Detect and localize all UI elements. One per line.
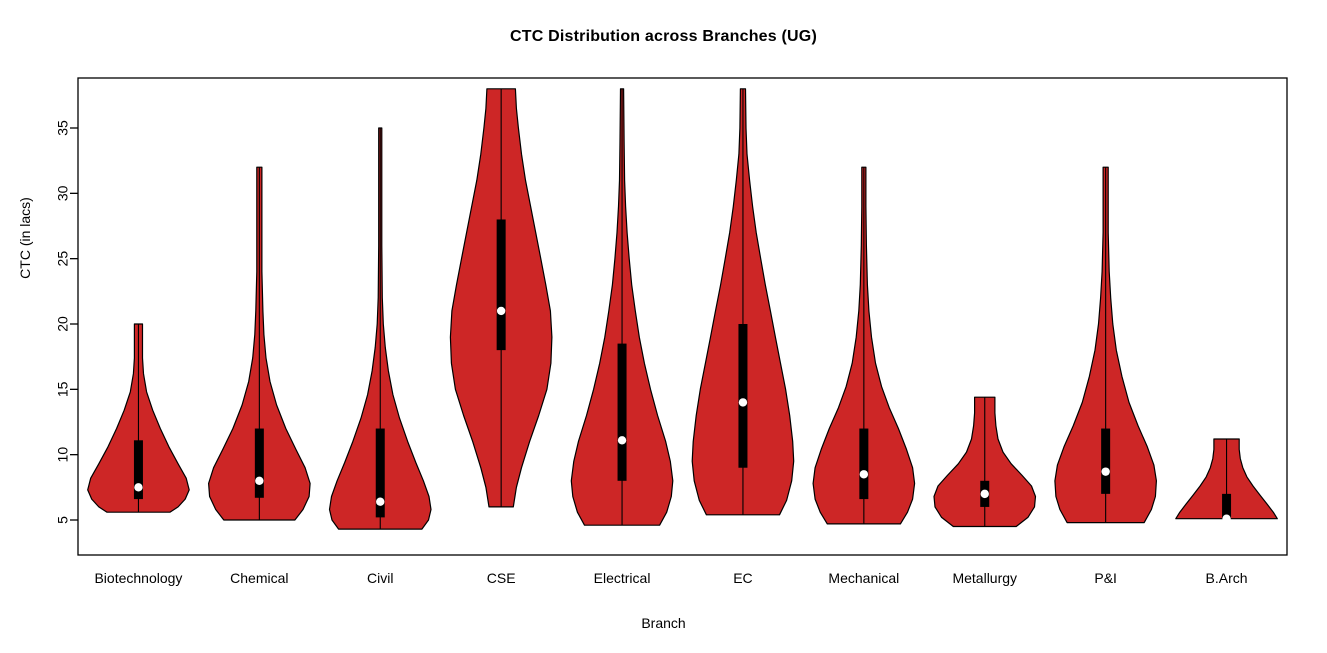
x-axis-category-labels: BiotechnologyChemicalCivilCSEElectricalE… — [94, 570, 1247, 586]
median-dot-1 — [255, 477, 263, 485]
median-dot-7 — [981, 490, 989, 498]
median-dot-0 — [134, 483, 142, 491]
median-dot-9 — [1222, 514, 1230, 522]
y-tick-label: 20 — [55, 316, 71, 332]
y-tick-label: 5 — [55, 516, 71, 524]
x-tick-label-barch: B.Arch — [1206, 570, 1248, 586]
median-dot-3 — [497, 307, 505, 315]
y-tick-label: 10 — [55, 447, 71, 463]
x-tick-label-chemical: Chemical — [230, 570, 288, 586]
median-dot-2 — [376, 498, 384, 506]
iqr-box-5 — [738, 324, 747, 468]
y-tick-label: 30 — [55, 185, 71, 201]
violin-plot-figure: CTC Distribution across Branches (UG) CT… — [0, 0, 1327, 653]
median-dot-6 — [860, 470, 868, 478]
x-tick-label-civil: Civil — [367, 570, 393, 586]
x-tick-label-biotechnology: Biotechnology — [94, 570, 182, 586]
x-tick-label-pi: P&I — [1094, 570, 1117, 586]
y-tick-label: 15 — [55, 381, 71, 397]
x-tick-label-cse: CSE — [487, 570, 516, 586]
iqr-box-3 — [497, 219, 506, 350]
x-tick-label-metallurgy: Metallurgy — [952, 570, 1017, 586]
iqr-box-6 — [859, 429, 868, 500]
x-tick-label-mechanical: Mechanical — [828, 570, 899, 586]
y-axis: 5101520253035 — [55, 120, 78, 524]
plot-canvas: 5101520253035 BiotechnologyChemicalCivil… — [0, 0, 1327, 653]
y-tick-label: 35 — [55, 120, 71, 136]
iqr-box-1 — [255, 429, 264, 498]
iqr-box-4 — [618, 344, 627, 481]
median-dot-8 — [1101, 467, 1109, 475]
x-tick-label-electrical: Electrical — [594, 570, 651, 586]
y-tick-label: 25 — [55, 251, 71, 267]
x-tick-label-ec: EC — [733, 570, 752, 586]
median-dot-5 — [739, 398, 747, 406]
iqr-box-8 — [1101, 429, 1110, 494]
median-dot-4 — [618, 436, 626, 444]
violin-series-group — [88, 89, 1278, 529]
